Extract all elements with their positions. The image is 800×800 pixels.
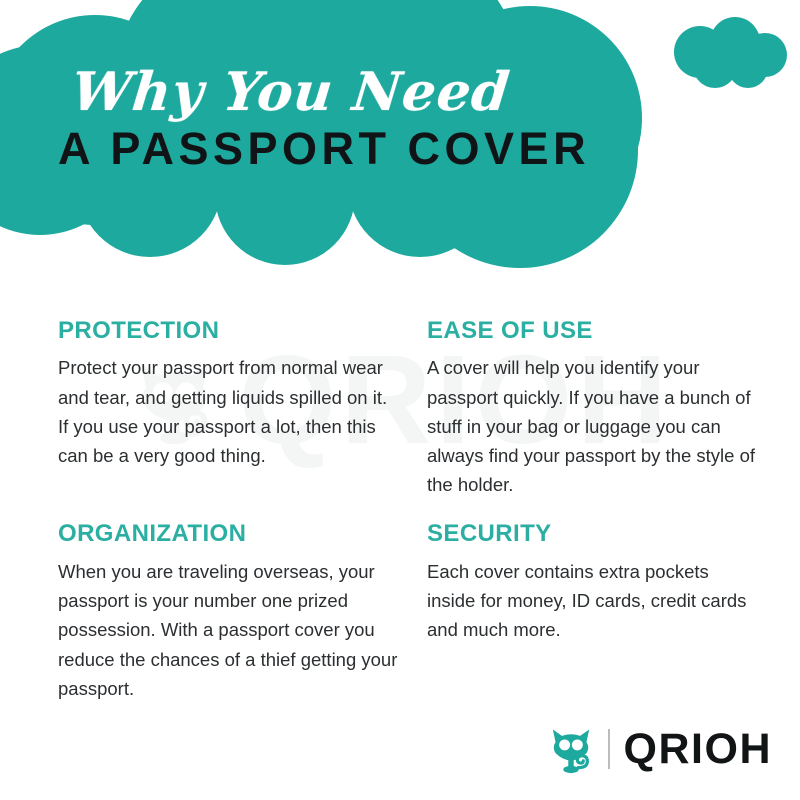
main-title: A PASSPORT COVER: [58, 125, 678, 172]
section-body-protection: Protect your passport from normal wear a…: [58, 353, 398, 470]
section-body-organization: When you are traveling overseas, your pa…: [58, 557, 398, 703]
section-ease-of-use: EASE OF USE A cover will help you identi…: [426, 318, 798, 499]
cat-logo-icon: [548, 724, 594, 774]
brand-logo[interactable]: QRIOH: [548, 724, 772, 774]
section-title-security: SECURITY: [427, 521, 798, 547]
brand-wordmark: QRIOH: [624, 728, 772, 771]
infographic-canvas: Why You Need A PASSPORT COVER QRIOH PROT…: [0, 0, 800, 800]
section-security: SECURITY Each cover contains extra pocke…: [426, 521, 798, 702]
section-body-security: Each cover contains extra pockets inside…: [427, 557, 761, 645]
section-protection: PROTECTION Protect your passport from no…: [58, 318, 426, 499]
section-organization: ORGANIZATION When you are traveling over…: [58, 521, 426, 702]
logo-divider: [608, 729, 610, 769]
sections-grid: PROTECTION Protect your passport from no…: [0, 318, 800, 703]
header-title-block: Why You Need A PASSPORT COVER: [58, 66, 678, 172]
section-title-protection: PROTECTION: [58, 318, 426, 344]
section-title-organization: ORGANIZATION: [58, 521, 426, 547]
section-body-ease-of-use: A cover will help you identify your pass…: [427, 353, 761, 499]
script-title: Why You Need: [69, 66, 681, 119]
section-title-ease-of-use: EASE OF USE: [427, 318, 798, 344]
